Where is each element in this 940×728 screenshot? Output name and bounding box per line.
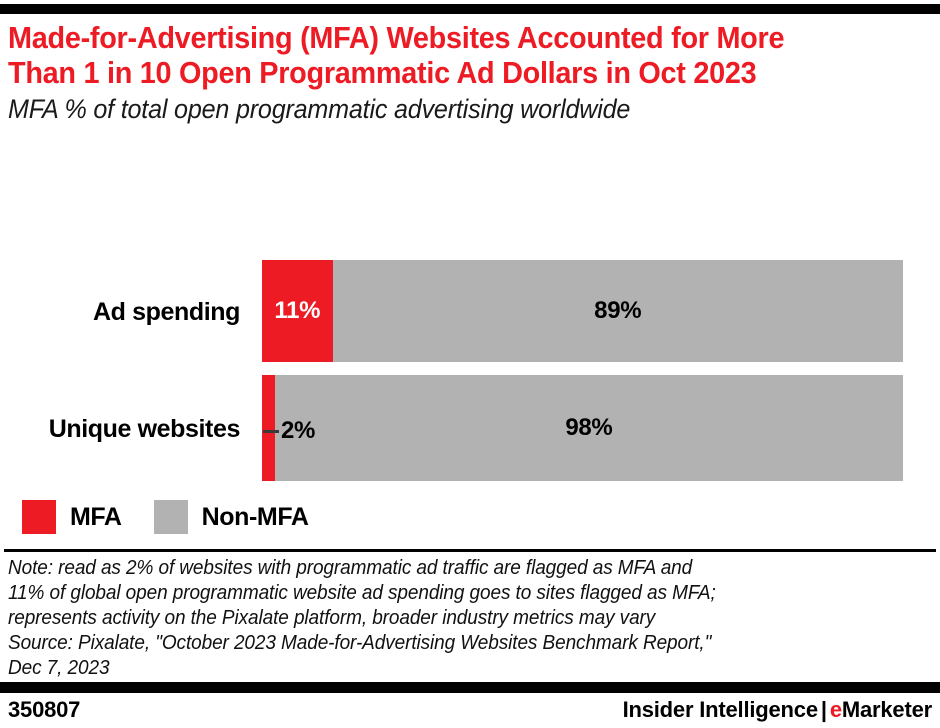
brand-emarketer-e: e <box>830 697 842 722</box>
bar-row-unique-websites: Unique websites 98% 2% <box>0 375 940 481</box>
note-rule-divider <box>4 549 936 552</box>
chart-plot-area: Ad spending 11% 89% Unique websites 98% <box>0 250 940 490</box>
category-label-unique-websites: Unique websites <box>0 415 240 444</box>
legend-swatch-non-mfa <box>154 500 188 534</box>
chart-legend: MFA Non-MFA <box>22 500 340 534</box>
source-line: Source: Pixalate, "October 2023 Made-for… <box>8 631 884 656</box>
bar-value-mfa-unique-websites: 2% <box>281 417 315 445</box>
chart-footer: 350807 Insider Intelligence|eMarketer <box>0 697 940 728</box>
chart-subtitle: MFA % of total open programmatic adverti… <box>8 94 856 125</box>
bar-segment-non-mfa-unique-websites: 98% <box>275 375 903 481</box>
bar-value-non-mfa-unique-websites: 98% <box>565 414 612 442</box>
chart-note-and-source: Note: read as 2% of websites with progra… <box>8 556 884 681</box>
brand-lockup: Insider Intelligence|eMarketer <box>623 697 932 723</box>
note-line: Note: read as 2% of websites with progra… <box>8 556 884 581</box>
chart-title: Made-for-Advertising (MFA) Websites Acco… <box>8 20 856 90</box>
emarketer-chart-card: Made-for-Advertising (MFA) Websites Acco… <box>0 0 940 728</box>
callout-leader-line <box>263 430 279 433</box>
legend-item-non-mfa: Non-MFA <box>154 500 309 534</box>
brand-emarketer-marketer: Marketer <box>842 697 932 722</box>
chart-id: 350807 <box>8 697 80 723</box>
legend-label-non-mfa: Non-MFA <box>202 503 309 532</box>
chart-header: Made-for-Advertising (MFA) Websites Acco… <box>8 20 920 125</box>
bar-row-ad-spending: Ad spending 11% 89% <box>0 260 940 362</box>
stacked-bar-unique-websites: 98% <box>262 375 903 481</box>
bar-segment-non-mfa-ad-spending: 89% <box>333 260 903 362</box>
bar-segment-mfa-ad-spending: 11% <box>262 260 333 362</box>
category-label-ad-spending: Ad spending <box>0 298 240 327</box>
source-line: Dec 7, 2023 <box>8 656 884 681</box>
top-rule-divider <box>0 4 940 14</box>
footer-rule-divider <box>0 682 940 693</box>
stacked-bar-ad-spending: 11% 89% <box>262 260 903 362</box>
note-line: 11% of global open programmatic website … <box>8 581 884 606</box>
legend-label-mfa: MFA <box>70 503 122 532</box>
callout-mfa-unique-websites: 2% <box>263 417 315 445</box>
bar-value-mfa-ad-spending: 11% <box>274 297 320 325</box>
legend-swatch-mfa <box>22 500 56 534</box>
brand-separator: | <box>818 697 830 722</box>
legend-item-mfa: MFA <box>22 500 122 534</box>
brand-insider-intelligence: Insider Intelligence <box>623 697 818 722</box>
note-line: represents activity on the Pixalate plat… <box>8 606 884 631</box>
bar-value-non-mfa-ad-spending: 89% <box>594 297 641 325</box>
